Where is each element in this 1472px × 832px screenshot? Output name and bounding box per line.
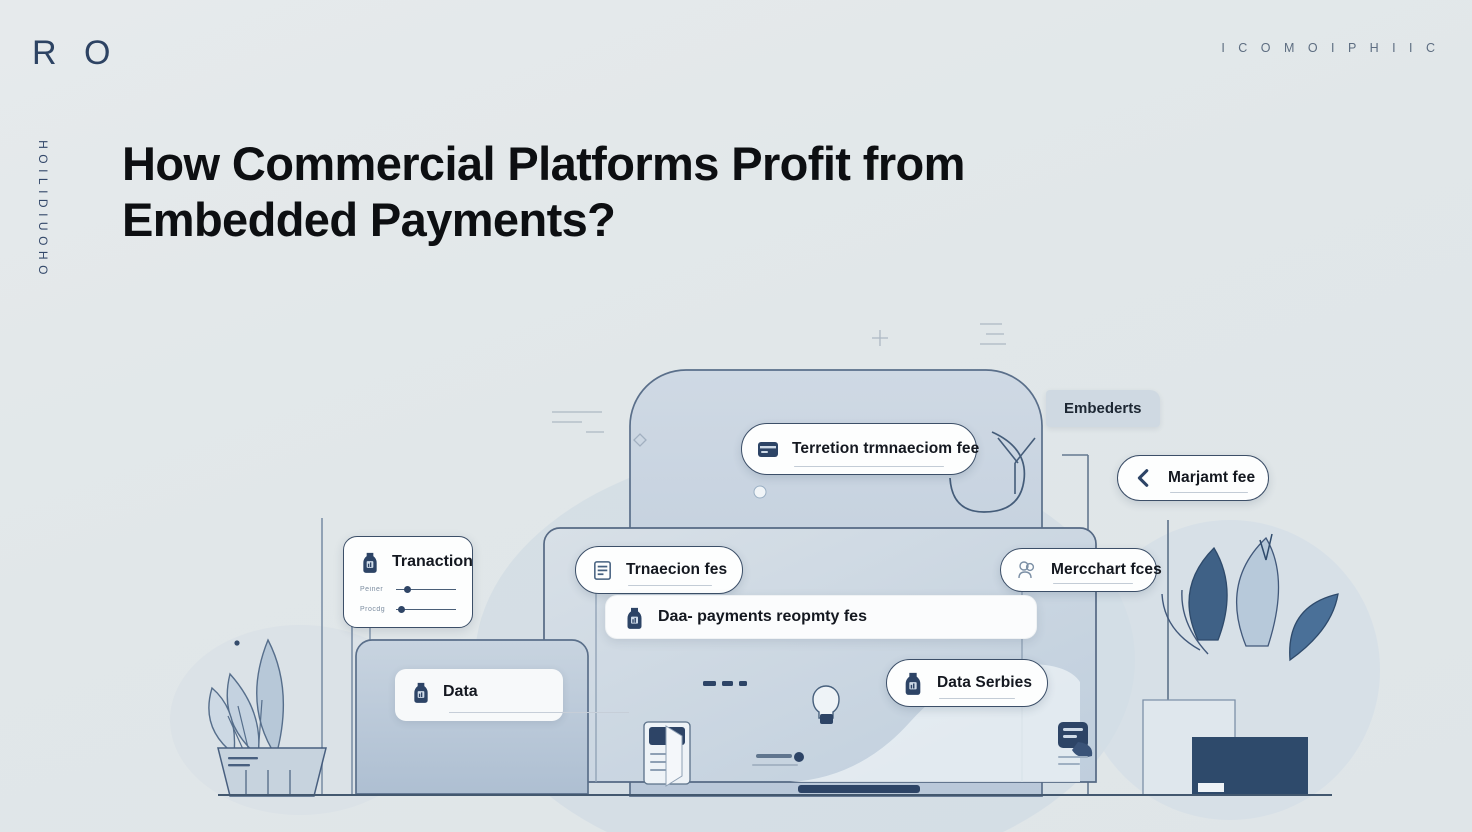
slider-label: Peiner <box>360 586 390 593</box>
card-title: Tranaction <box>392 553 473 571</box>
bar-label: Data <box>443 683 478 701</box>
document-icon <box>644 722 690 786</box>
slider-track[interactable] <box>396 589 456 591</box>
card-transaction[interactable]: Tranaction Peiner Procdg <box>343 536 473 628</box>
bar-label: Daa- payments reopmty fes <box>658 608 867 626</box>
card-header: Tranaction <box>360 551 456 573</box>
page-title: How Commercial Platforms Profit from Emb… <box>122 136 1052 248</box>
chip-underline <box>794 466 944 468</box>
logo[interactable]: R O <box>32 34 119 73</box>
slider-row-2[interactable]: Procdg <box>360 606 456 613</box>
micro-caption <box>752 752 804 766</box>
slider-track[interactable] <box>396 609 456 611</box>
bulb-icon <box>813 686 839 724</box>
page-title-line-1: How Commercial Platforms Profit from <box>122 136 1052 192</box>
chip-transaction-fee-top[interactable]: Terretion trmnaeciom fee <box>741 423 977 475</box>
slider-knob[interactable] <box>398 606 405 613</box>
shield-icon <box>1058 722 1092 765</box>
chip-merchant-fee[interactable]: Marjamt fee <box>1117 455 1269 501</box>
bar-header: Data <box>411 681 545 703</box>
chip-transaction-fees-mid[interactable]: Trnaecion fes <box>575 546 743 594</box>
page-title-line-2: Embedded Payments? <box>122 192 1052 248</box>
bottle-chart-icon <box>900 670 926 696</box>
chip-label: Mercchart fces <box>1051 561 1162 579</box>
bottle-chart-icon <box>360 551 380 573</box>
document-lines-icon <box>589 557 615 583</box>
people-icon <box>1014 557 1040 583</box>
bottle-chart-icon <box>411 681 431 703</box>
slider-row-1[interactable]: Peiner <box>360 586 456 593</box>
chip-data-series[interactable]: Data Serbies <box>886 659 1048 707</box>
chip-underline <box>628 585 712 587</box>
plant-left <box>209 640 326 796</box>
chip-underline <box>1170 492 1248 494</box>
chip-label: Terretion trmnaeciom fee <box>792 440 979 458</box>
bar-underline <box>449 712 629 713</box>
dash-marks <box>703 681 747 686</box>
brand-right-label: I C O M O I P H I I C <box>1221 41 1440 55</box>
slider-label: Procdg <box>360 606 390 613</box>
slider-knob[interactable] <box>404 586 411 593</box>
chip-underline <box>1053 583 1133 585</box>
slide-canvas: R O HOILIDIUOHO I C O M O I P H I I C Ho… <box>0 0 1472 832</box>
tab-embedded[interactable]: Embederts <box>1046 390 1160 427</box>
illustration <box>0 0 1472 832</box>
card-icon <box>755 436 781 462</box>
vertical-brand-label: HOILIDIUOHO <box>36 140 50 280</box>
chip-underline <box>939 698 1015 700</box>
chip-label: Marjamt fee <box>1168 469 1255 487</box>
bar-data-payments[interactable]: Daa- payments reopmty fes <box>605 595 1037 639</box>
plant-right <box>1162 534 1338 795</box>
bar-data[interactable]: Data <box>395 669 563 721</box>
vertical-brand-text: HOILIDIUOHO <box>18 120 68 300</box>
bottle-chart-icon <box>624 606 645 629</box>
chevron-left-icon <box>1131 465 1157 491</box>
chip-label: Data Serbies <box>937 674 1032 692</box>
chip-merchant-fees[interactable]: Mercchart fces <box>1000 548 1157 592</box>
chip-label: Trnaecion fes <box>626 561 727 579</box>
